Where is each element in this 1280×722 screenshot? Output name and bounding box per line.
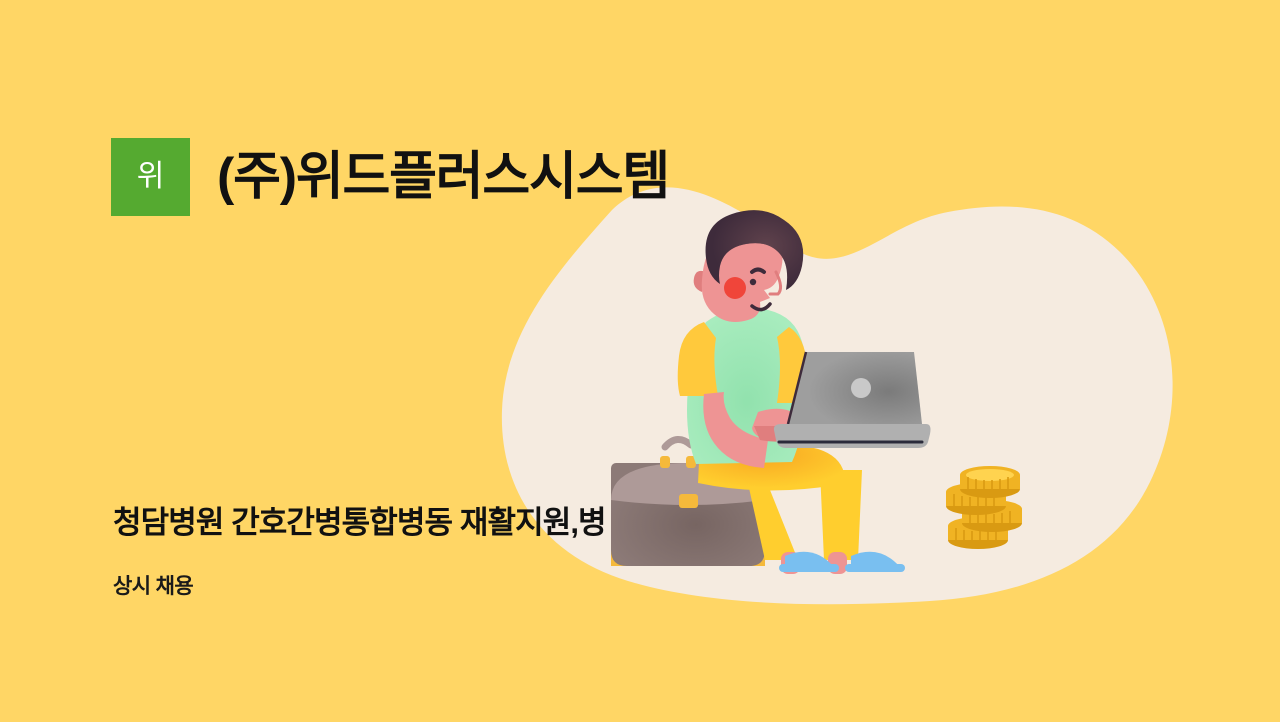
person-working-on-laptop-illustration [0,0,1280,722]
person-torso [678,300,808,468]
job-title: 청담병원 간호간병통합병동 재활지원,병 [113,504,1213,543]
company-header: 위 (주)위드플러스시스템 [111,138,669,216]
employment-type-badge: 상시 채용 [113,570,193,600]
briefcase-icon [611,439,765,566]
decorative-blob [0,0,1280,722]
person-head [694,210,804,322]
slippers-icon [779,552,905,572]
job-posting-card: 위 (주)위드플러스시스템 [0,0,1280,722]
company-logo-badge: 위 [111,138,190,216]
laptop-icon [774,352,931,448]
company-name: (주)위드플러스시스템 [217,149,669,205]
company-logo-initial: 위 [137,162,165,192]
